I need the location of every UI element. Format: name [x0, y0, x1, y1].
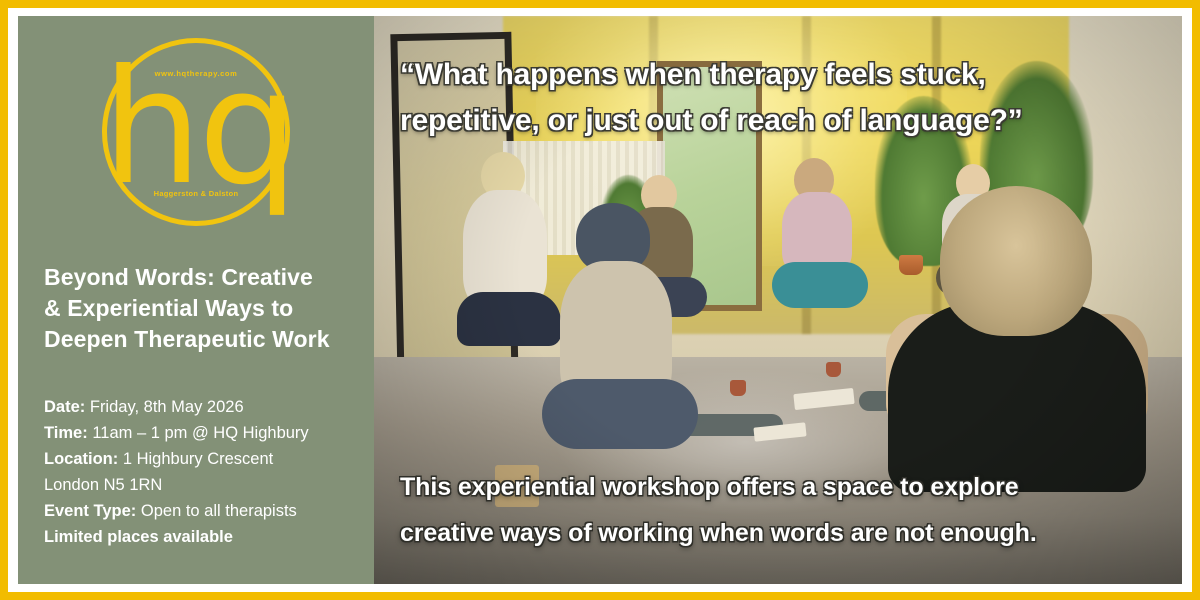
- detail-date: Date: Friday, 8th May 2026: [44, 394, 366, 420]
- detail-location-value: 1 Highbury Crescent: [123, 450, 273, 468]
- event-title-line-1: Beyond Words: Creative: [44, 264, 313, 290]
- detail-time: Time: 11am – 1 pm @ HQ Highbury: [44, 420, 366, 446]
- event-title: Beyond Words: Creative & Experiential Wa…: [44, 262, 364, 355]
- detail-location: Location: 1 Highbury Crescent: [44, 446, 366, 472]
- person-legs: [457, 292, 561, 346]
- person-lap: [542, 379, 698, 449]
- detail-location-line-2: London N5 1RN: [44, 472, 366, 498]
- mug: [730, 380, 746, 396]
- workshop-description: This experiential workshop offers a spac…: [400, 464, 1164, 556]
- event-details: Date: Friday, 8th May 2026 Time: 11am – …: [44, 394, 366, 550]
- detail-availability: Limited places available: [44, 524, 366, 550]
- event-photo: “What happens when therapy feels stuck, …: [374, 16, 1182, 584]
- subline-line-2: creative ways of working when words are …: [400, 510, 1164, 556]
- detail-availability-text: Limited places available: [44, 528, 233, 546]
- person-hair: [940, 186, 1092, 336]
- subline-line-1: This experiential workshop offers a spac…: [400, 473, 1019, 501]
- detail-time-value: 11am – 1 pm @ HQ Highbury: [92, 424, 308, 442]
- plant-pot: [899, 255, 923, 275]
- event-title-line-3: Deepen Therapeutic Work: [44, 326, 330, 352]
- banner-content: www.hqtherapy.com hq Haggerston & Dalsto…: [18, 16, 1182, 584]
- detail-date-label: Date:: [44, 398, 85, 416]
- detail-location-label: Location:: [44, 450, 118, 468]
- detail-time-label: Time:: [44, 424, 88, 442]
- headline-line-1: “What happens when therapy feels stuck,: [400, 58, 986, 91]
- headline-quote: “What happens when therapy feels stuck, …: [400, 52, 1178, 144]
- info-panel: www.hqtherapy.com hq Haggerston & Dalsto…: [18, 16, 374, 584]
- hq-logo: www.hqtherapy.com hq Haggerston & Dalsto…: [102, 38, 290, 226]
- detail-event-type: Event Type: Open to all therapists: [44, 498, 366, 524]
- detail-date-value: Friday, 8th May 2026: [90, 398, 244, 416]
- event-title-line-2: & Experiential Ways to: [44, 295, 293, 321]
- person-legs: [772, 262, 868, 308]
- event-banner: www.hqtherapy.com hq Haggerston & Dalsto…: [0, 0, 1200, 600]
- mug: [826, 362, 841, 377]
- headline-line-2: repetitive, or just out of reach of lang…: [400, 104, 1023, 137]
- detail-event-type-value: Open to all therapists: [141, 502, 297, 520]
- detail-event-type-label: Event Type:: [44, 502, 136, 520]
- logo-location-text: Haggerston & Dalston: [102, 189, 290, 198]
